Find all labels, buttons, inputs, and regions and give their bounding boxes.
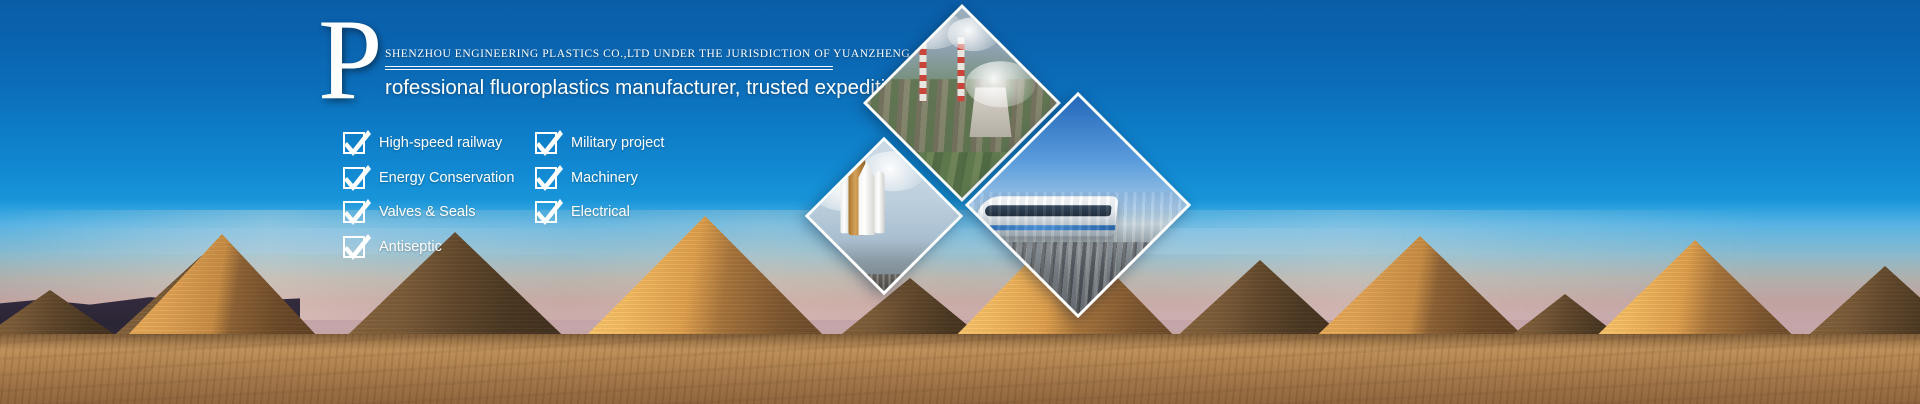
feature-item-machinery[interactable]: Machinery bbox=[535, 161, 664, 195]
checkmark-icon bbox=[535, 132, 557, 154]
feature-label: Energy Conservation bbox=[379, 170, 514, 186]
pyramid bbox=[570, 216, 840, 352]
checkmark-icon bbox=[535, 167, 557, 189]
feature-label: Valves & Seals bbox=[379, 204, 475, 220]
divider-rule bbox=[385, 66, 833, 70]
feature-label: High-speed railway bbox=[379, 135, 502, 151]
feature-column-1: High-speed railway Energy Conservation V… bbox=[343, 126, 514, 264]
feature-label: Electrical bbox=[571, 204, 630, 220]
feature-label: Military project bbox=[571, 135, 664, 151]
feature-label: Antiseptic bbox=[379, 239, 442, 255]
company-name-line: SHENZHOU ENGINEERING PLASTICS CO.,LTD UN… bbox=[385, 48, 955, 60]
feature-item-antiseptic[interactable]: Antiseptic bbox=[343, 230, 514, 264]
feature-item-electrical[interactable]: Electrical bbox=[535, 195, 664, 229]
checkmark-icon bbox=[343, 236, 365, 258]
promo-banner: P SHENZHOU ENGINEERING PLASTICS CO.,LTD … bbox=[0, 0, 1920, 404]
checkmark-icon bbox=[343, 201, 365, 223]
checkmark-icon bbox=[535, 201, 557, 223]
feature-item-high-speed-railway[interactable]: High-speed railway bbox=[343, 126, 514, 160]
feature-item-valves-and-seals[interactable]: Valves & Seals bbox=[343, 195, 514, 229]
logo-letter-p: P bbox=[318, 2, 381, 118]
feature-item-energy-conservation[interactable]: Energy Conservation bbox=[343, 161, 514, 195]
desert-ground bbox=[0, 334, 1920, 404]
checkmark-icon bbox=[343, 167, 365, 189]
feature-column-2: Military project Machinery Electrical bbox=[535, 126, 664, 230]
feature-label: Machinery bbox=[571, 170, 638, 186]
feature-item-military-project[interactable]: Military project bbox=[535, 126, 664, 160]
checkmark-icon bbox=[343, 132, 365, 154]
